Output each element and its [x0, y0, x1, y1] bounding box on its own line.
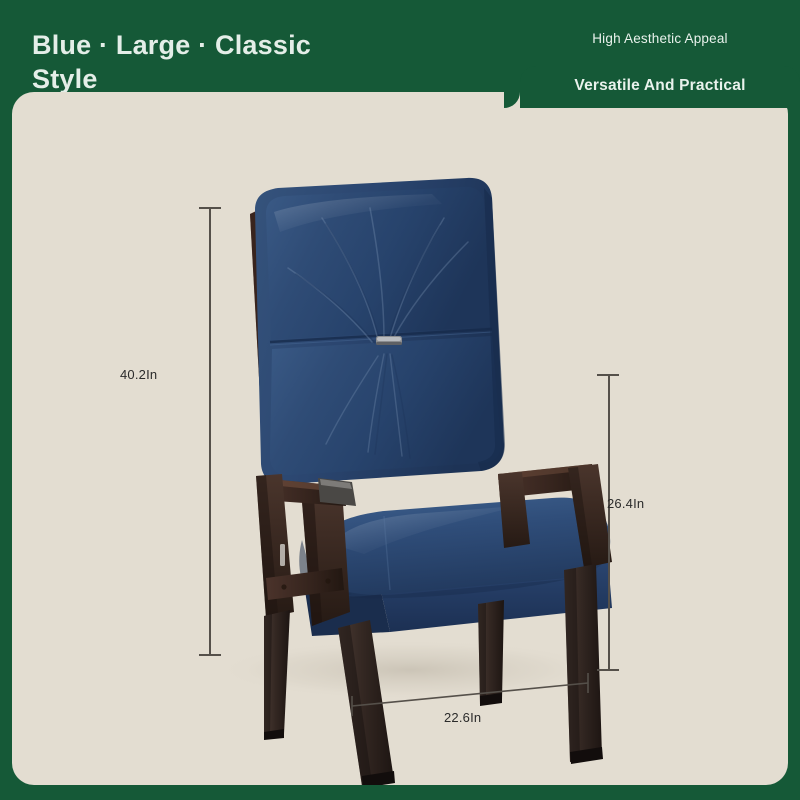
dimension-line-seat-height — [608, 375, 610, 671]
feature-label-aesthetic: High Aesthetic Appeal — [520, 31, 800, 46]
dimension-label-width: 22.6In — [444, 710, 481, 725]
dimension-label-height: 40.2In — [120, 367, 157, 382]
dimension-label-seat-height: 26.4In — [607, 496, 644, 511]
dimension-line-height — [209, 208, 211, 656]
dimension-tick-height-bottom — [199, 654, 221, 656]
dimension-tick-seat-top — [597, 374, 619, 376]
page-title: Blue · Large · Classic Style — [32, 28, 452, 96]
dimension-tick-height-top — [199, 207, 221, 209]
product-spec-card: Blue · Large · Classic Style High Aesthe… — [0, 0, 800, 800]
feature-label-versatile: Versatile And Practical — [520, 77, 800, 95]
feature-tab: Versatile And Practical — [520, 66, 800, 108]
